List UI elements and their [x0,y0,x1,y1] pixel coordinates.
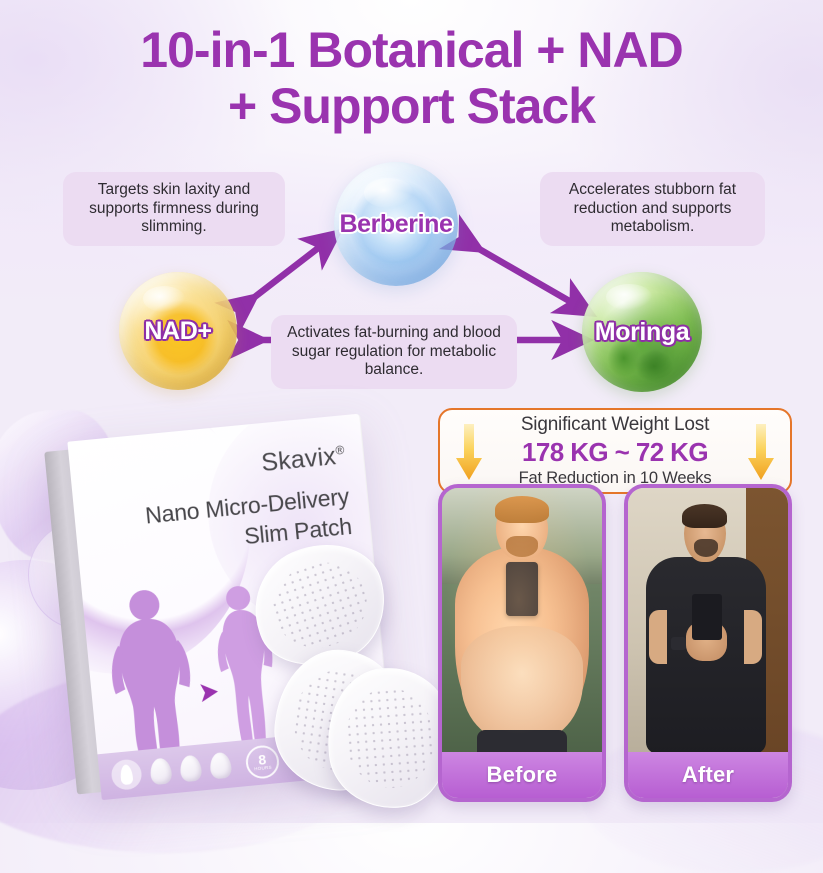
patch-pellet-icon-3 [209,752,232,780]
before-photo-card: Before [438,484,606,802]
after-label: After [628,752,788,798]
product-brand-name: Skavix [260,442,337,477]
ingredient-sphere-moringa: Moringa [582,272,702,392]
callout-fat-reduction: Accelerates stubborn fat reduction and s… [540,172,765,246]
after-photo-hair [682,504,727,528]
results-panel: Significant Weight Lost 178 KG ~ 72 KG F… [438,408,810,806]
after-photo-phone [692,594,722,639]
after-photo-card: After [624,484,792,802]
down-arrow-right-icon [746,422,776,484]
arrow-nad-berberine [243,242,326,306]
ingredient-sphere-berberine: Berberine [334,162,458,286]
headline-line-2: + Support Stack [0,78,823,134]
ingredient-diagram: Targets skin laxity and supports firmnes… [0,160,823,410]
after-photo-beard [694,539,718,558]
after-photo [628,488,788,754]
patch-pellet-icon-1 [149,757,172,785]
trademark-symbol: ® [335,443,345,458]
arrow-berberine-moringa [467,242,578,306]
product-showcase: Skavix® Nano Micro-Delivery Slim Patch [38,408,428,823]
hours-badge-icon: 8 HOURS [244,744,280,780]
before-label: Before [442,752,602,798]
before-photo [442,488,602,754]
down-arrow-left-icon [454,422,484,484]
weight-loss-title: Significant Weight Lost [519,414,712,436]
weight-loss-values: 178 KG ~ 72 KG [519,437,712,468]
brand-logo-icon [110,758,143,791]
ingredient-label-moringa: Moringa [595,318,689,347]
after-photo-watch [671,637,685,650]
weight-loss-text-group: Significant Weight Lost 178 KG ~ 72 KG F… [519,414,712,488]
infographic-canvas: 10-in-1 Botanical + NAD + Support Stack … [0,0,823,823]
hours-unit: HOURS [254,765,272,771]
weight-loss-banner: Significant Weight Lost 178 KG ~ 72 KG F… [438,408,792,494]
patch-pellet-icon-2 [179,755,202,783]
callout-metabolic-balance: Activates fat-burning and blood sugar re… [271,315,517,389]
ingredient-label-nad: NAD+ [144,317,211,346]
before-photo-lighting [442,488,602,754]
headline-line-1: 10-in-1 Botanical + NAD [140,22,682,78]
page-title: 10-in-1 Botanical + NAD + Support Stack [0,22,823,134]
callout-skin-laxity: Targets skin laxity and supports firmnes… [63,172,285,246]
ingredient-sphere-nad: NAD+ [119,272,237,390]
ingredient-label-berberine: Berberine [339,210,452,239]
